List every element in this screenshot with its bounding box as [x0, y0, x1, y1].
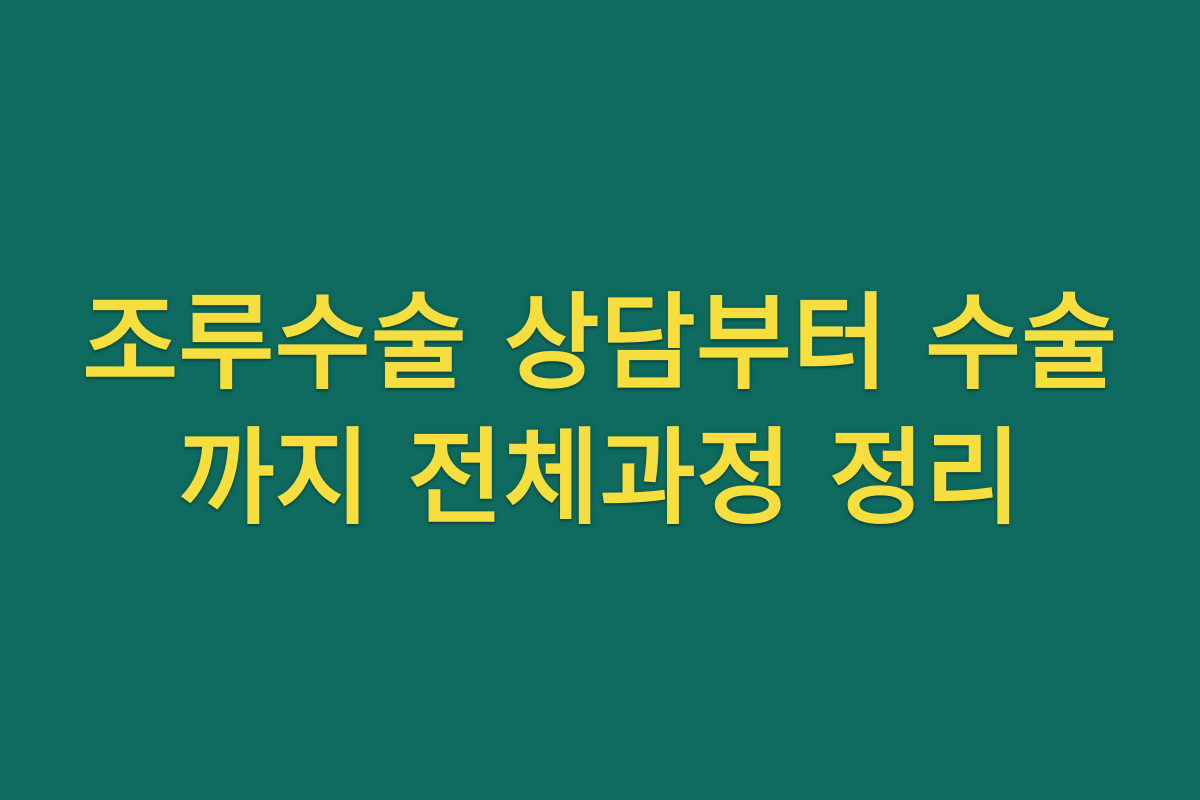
headline-line-1: 조루수술 상담부터 수술: [40, 276, 1160, 411]
headline-block: 조루수술 상담부터 수술 까지 전체과정 정리: [0, 276, 1200, 546]
banner-canvas: 조루수술 상담부터 수술 까지 전체과정 정리: [0, 0, 1200, 800]
headline-line-2: 까지 전체과정 정리: [40, 411, 1160, 546]
